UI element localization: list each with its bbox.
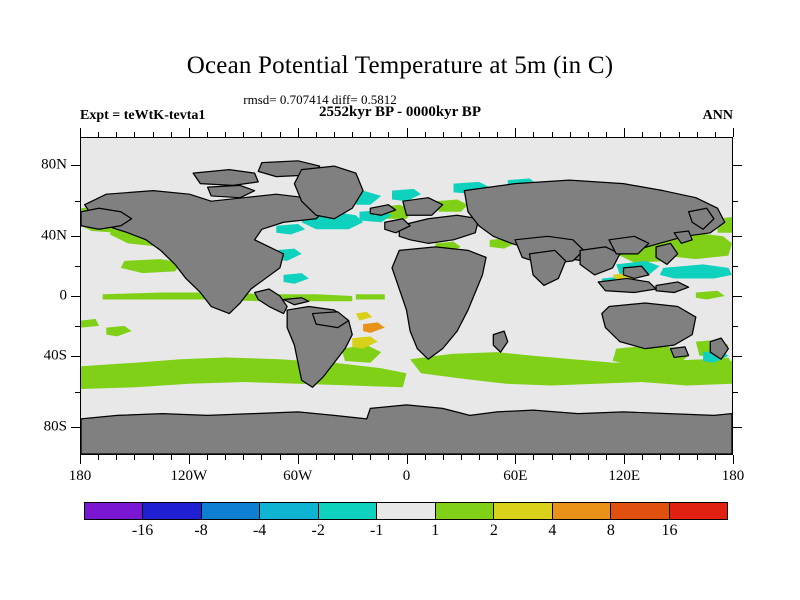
colorbar-band-6: [436, 503, 494, 519]
x-tick-minor: [461, 455, 462, 460]
x-tick-top-minor: [443, 132, 444, 137]
colorbar-band-5: [377, 503, 435, 519]
colorbar-tick-label: 16: [661, 522, 677, 540]
colorbar-band-2: [202, 503, 260, 519]
x-tick-minor: [352, 455, 353, 460]
x-tick-top-minor: [370, 132, 371, 137]
x-tick-top-minor: [134, 132, 135, 137]
colorbar-band-3: [260, 503, 318, 519]
x-tick-top-minor: [243, 132, 244, 137]
colorbar-tick-label: 2: [490, 522, 498, 540]
x-tick-minor: [588, 455, 589, 460]
x-tick-major: [298, 455, 299, 464]
x-tick-minor: [153, 455, 154, 460]
x-tick-minor: [334, 455, 335, 460]
map-frame: [80, 137, 733, 455]
x-tick-minor: [261, 455, 262, 460]
y-tick-major-right: [733, 356, 742, 357]
colorbar-tick-label: -16: [132, 522, 153, 540]
x-tick-top-minor: [679, 132, 680, 137]
x-tick-minor: [388, 455, 389, 460]
x-tick-top-minor: [261, 132, 262, 137]
x-tick-top-minor: [552, 132, 553, 137]
world-map: [81, 138, 732, 454]
x-tick-minor: [98, 455, 99, 460]
colorbar-band-9: [611, 503, 669, 519]
season-label: ANN: [703, 108, 733, 124]
x-axis-label-60e: 60E: [503, 468, 527, 485]
colorbar-tick-label: -8: [194, 522, 207, 540]
x-tick-minor: [425, 455, 426, 460]
x-tick-minor: [533, 455, 534, 460]
x-axis-label-120e: 120E: [608, 468, 640, 485]
y-tick-minor-right: [733, 392, 738, 393]
x-tick-minor: [660, 455, 661, 460]
x-tick-minor: [243, 455, 244, 460]
x-tick-major: [515, 455, 516, 464]
x-tick-top-minor: [280, 132, 281, 137]
x-axis-label-180w: 180: [69, 468, 92, 485]
x-tick-major: [407, 455, 408, 464]
x-tick-minor: [116, 455, 117, 460]
y-tick-major-right: [733, 236, 742, 237]
x-tick-top-minor: [606, 132, 607, 137]
x-tick-minor: [134, 455, 135, 460]
x-tick-minor: [497, 455, 498, 460]
x-tick-top-minor: [425, 132, 426, 137]
y-axis-label-80s: 80S: [44, 418, 67, 435]
x-tick-top-major: [80, 128, 81, 137]
y-tick-minor: [75, 326, 80, 327]
x-axis-label-60w: 60W: [283, 468, 312, 485]
colorbar-band-0: [85, 503, 143, 519]
x-tick-minor: [280, 455, 281, 460]
y-tick-minor-right: [733, 201, 738, 202]
x-tick-major: [189, 455, 190, 464]
colorbar-band-7: [494, 503, 552, 519]
y-tick-major-right: [733, 427, 742, 428]
x-tick-minor: [570, 455, 571, 460]
y-tick-minor: [75, 266, 80, 267]
x-tick-top-minor: [461, 132, 462, 137]
colorbar-tick-label: 8: [607, 522, 615, 540]
x-tick-minor: [697, 455, 698, 460]
x-tick-minor: [316, 455, 317, 460]
x-tick-top-major: [515, 128, 516, 137]
y-axis-label-40n: 40N: [41, 227, 67, 244]
x-tick-minor: [552, 455, 553, 460]
x-tick-top-minor: [479, 132, 480, 137]
x-tick-minor: [715, 455, 716, 460]
arctic-island: [193, 170, 258, 186]
x-tick-top-minor: [642, 132, 643, 137]
colorbar: [84, 502, 728, 520]
x-tick-minor: [171, 455, 172, 460]
x-tick-top-minor: [388, 132, 389, 137]
x-axis-label-0: 0: [403, 468, 411, 485]
x-tick-major: [80, 455, 81, 464]
colorbar-band-1: [143, 503, 201, 519]
x-tick-top-minor: [570, 132, 571, 137]
y-tick-minor: [75, 392, 80, 393]
y-axis-label-40s: 40S: [44, 348, 67, 365]
x-tick-top-minor: [116, 132, 117, 137]
x-tick-top-minor: [316, 132, 317, 137]
x-tick-major: [733, 455, 734, 464]
y-tick-minor-right: [733, 266, 738, 267]
x-tick-top-minor: [660, 132, 661, 137]
x-tick-minor: [606, 455, 607, 460]
x-tick-top-major: [298, 128, 299, 137]
y-axis-label-0: 0: [60, 288, 68, 305]
x-tick-top-minor: [697, 132, 698, 137]
figure-canvas: Ocean Potential Temperature at 5m (in C)…: [0, 0, 800, 600]
y-tick-major: [71, 165, 80, 166]
x-tick-top-minor: [497, 132, 498, 137]
colorbar-band-8: [553, 503, 611, 519]
colorbar-tick-label: -1: [370, 522, 383, 540]
x-axis-label-180e: 180: [722, 468, 745, 485]
y-tick-major-right: [733, 296, 742, 297]
y-tick-major: [71, 427, 80, 428]
x-tick-top-minor: [588, 132, 589, 137]
y-axis-label-80n: 80N: [41, 157, 67, 174]
x-tick-top-minor: [225, 132, 226, 137]
x-tick-top-minor: [533, 132, 534, 137]
y-tick-major-right: [733, 165, 742, 166]
y-tick-major: [71, 356, 80, 357]
x-tick-top-major: [624, 128, 625, 137]
x-tick-top-major: [189, 128, 190, 137]
colorbar-tick-label: 4: [548, 522, 556, 540]
colorbar-band-10: [670, 503, 727, 519]
x-tick-minor: [207, 455, 208, 460]
x-tick-top-major: [407, 128, 408, 137]
x-tick-minor: [443, 455, 444, 460]
x-tick-major: [624, 455, 625, 464]
y-tick-minor: [75, 201, 80, 202]
map-plot-area: 80N 40N 0 40S 80S 180 120W 60W 0 60E 120…: [80, 137, 733, 455]
x-axis-label-120w: 120W: [170, 468, 207, 485]
x-tick-top-major: [733, 128, 734, 137]
page-title: Ocean Potential Temperature at 5m (in C): [0, 52, 800, 80]
y-tick-major: [71, 296, 80, 297]
y-tick-minor-right: [733, 326, 738, 327]
colorbar-band-4: [319, 503, 377, 519]
x-tick-top-minor: [715, 132, 716, 137]
tasmania: [671, 347, 689, 358]
y-tick-major: [71, 236, 80, 237]
x-tick-minor: [479, 455, 480, 460]
x-tick-minor: [679, 455, 680, 460]
x-tick-minor: [225, 455, 226, 460]
period-label: 2552kyr BP - 0000kyr BP: [0, 104, 800, 121]
x-tick-top-minor: [171, 132, 172, 137]
colorbar-tick-label: -4: [253, 522, 266, 540]
x-tick-top-minor: [98, 132, 99, 137]
x-tick-top-minor: [153, 132, 154, 137]
x-tick-top-minor: [334, 132, 335, 137]
x-tick-top-minor: [352, 132, 353, 137]
colorbar-tick-label: 1: [431, 522, 439, 540]
colorbar-tick-label: -2: [312, 522, 325, 540]
x-tick-minor: [370, 455, 371, 460]
x-tick-top-minor: [207, 132, 208, 137]
x-tick-minor: [642, 455, 643, 460]
